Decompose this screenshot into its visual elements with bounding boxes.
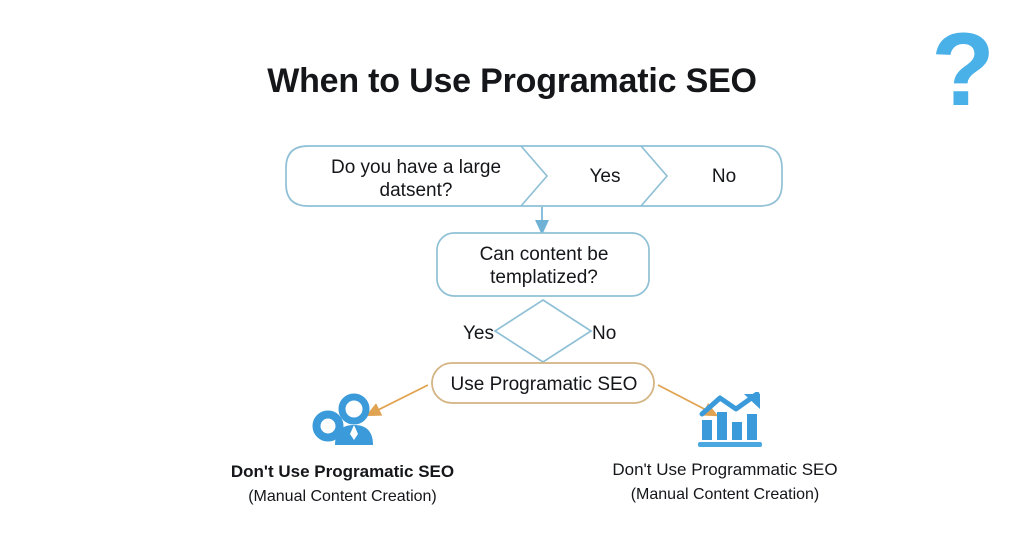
outcome-right-line1: Don't Use Programmatic SEO: [560, 458, 890, 483]
chevron-segment-question-label: Do you have a large datsent?: [296, 156, 536, 202]
outcome-right-line2: (Manual Content Creation): [560, 483, 890, 506]
outcome-left-line1: Don't Use Programatic SEO: [170, 460, 515, 485]
growth-chart-icon: [694, 392, 768, 450]
outcome-left-caption: Don't Use Programatic SEO (Manual Conten…: [170, 460, 515, 508]
users-icon: [306, 393, 382, 449]
chevron-segment-no-label: No: [668, 165, 780, 188]
outcome-right-caption: Don't Use Programmatic SEO (Manual Conte…: [560, 458, 890, 506]
templatize-decision-diamond: [495, 300, 591, 362]
templatize-question-label: Can content be templatized?: [442, 243, 646, 289]
outcome-left-line2: (Manual Content Creation): [170, 485, 515, 508]
slide-canvas: When to Use Programatic SEO ?: [0, 0, 1024, 559]
diamond-yes-label: Yes: [432, 322, 494, 345]
diamond-no-label: No: [592, 322, 654, 345]
chevron-segment-yes-label: Yes: [548, 165, 662, 188]
use-programatic-seo-label: Use Programatic SEO: [434, 373, 654, 396]
